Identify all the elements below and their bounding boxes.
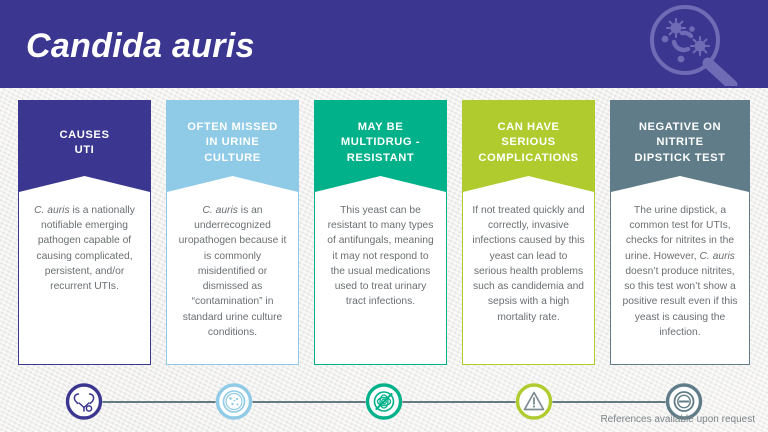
card-body-italic: C. auris <box>34 205 69 216</box>
heading-line: IN URINE <box>206 136 260 148</box>
card-body: C. auris is an underrecognized uropathog… <box>167 197 298 340</box>
kidneys-icon <box>66 383 103 420</box>
card-body: The urine dipstick, a common test for UT… <box>611 197 749 340</box>
petri-dish-icon <box>216 383 253 420</box>
card-heading: OFTEN MISSED IN URINE CULTURE <box>167 101 298 197</box>
card-body-text: is an underrecognized uropathogen becaus… <box>179 205 287 338</box>
card-body-text: is a nationally notifiable emerging path… <box>36 205 134 292</box>
card-may-be-multidrug-resistant: MAY BE MULTIDRUG - RESISTANT This yeast … <box>314 100 447 365</box>
card-can-have-serious-complications: CAN HAVE SERIOUS COMPLICATIONS If not tr… <box>462 100 595 365</box>
card-heading: CAN HAVE SERIOUS COMPLICATIONS <box>463 101 594 197</box>
card-heading: MAY BE MULTIDRUG - RESISTANT <box>315 101 446 197</box>
magnifier-microbe-icon <box>636 2 746 86</box>
chevron-notch-icon <box>19 176 150 198</box>
heading-line: SERIOUS <box>501 136 555 148</box>
chevron-notch-icon <box>167 176 298 198</box>
card-body: C. auris is a nationally notifiable emer… <box>19 197 150 294</box>
card-body: This yeast can be resistant to many type… <box>315 197 446 310</box>
card-body-text: This yeast can be resistant to many type… <box>327 205 433 307</box>
footer-note: References available upon request <box>600 414 755 425</box>
card-body-text: doesn’t produce nitrites, so this test w… <box>622 266 737 338</box>
heading-line: DIPSTICK TEST <box>634 152 725 164</box>
chevron-notch-icon <box>611 176 749 198</box>
no-pill-icon <box>366 383 403 420</box>
card-negative-on-nitrite-dipstick-test: NEGATIVE ON NITRITE DIPSTICK TEST The ur… <box>610 100 750 365</box>
card-body: If not treated quickly and correctly, in… <box>463 197 594 325</box>
heading-line: COMPLICATIONS <box>478 152 578 164</box>
heading-line: OFTEN MISSED <box>187 121 278 133</box>
heading-line: MULTIDRUG - <box>341 136 420 148</box>
timeline-node-multidrug-resistant[interactable] <box>366 383 403 420</box>
heading-line: CULTURE <box>204 152 260 164</box>
card-causes-uti: CAUSES UTI C. auris is a nationally noti… <box>18 100 151 365</box>
chevron-notch-icon <box>315 176 446 198</box>
timeline-node-causes-uti[interactable] <box>66 383 103 420</box>
card-body-italic: C. auris <box>202 205 237 216</box>
card-often-missed-in-urine-culture: OFTEN MISSED IN URINE CULTURE C. auris i… <box>166 100 299 365</box>
infographic-page: Candida auris <box>0 0 768 432</box>
page-title: Candida auris <box>26 27 255 66</box>
card-body-italic: C. auris <box>699 251 734 262</box>
header-banner: Candida auris <box>0 0 768 88</box>
timeline-node-often-missed[interactable] <box>216 383 253 420</box>
heading-line: MAY BE <box>358 121 404 133</box>
card-heading: NEGATIVE ON NITRITE DIPSTICK TEST <box>611 101 749 197</box>
heading-line: RESISTANT <box>347 152 415 164</box>
warning-triangle-icon <box>516 383 553 420</box>
heading-line: NEGATIVE ON <box>639 121 721 133</box>
chevron-notch-icon <box>463 176 594 198</box>
timeline-node-serious-complications[interactable] <box>516 383 553 420</box>
heading-line: CAN HAVE <box>497 121 559 133</box>
heading-line: CAUSES <box>60 129 110 141</box>
card-body-text: If not treated quickly and correctly, in… <box>472 205 584 323</box>
heading-line: NITRITE <box>656 136 703 148</box>
heading-line: UTI <box>75 144 95 156</box>
card-heading: CAUSES UTI <box>19 101 150 197</box>
